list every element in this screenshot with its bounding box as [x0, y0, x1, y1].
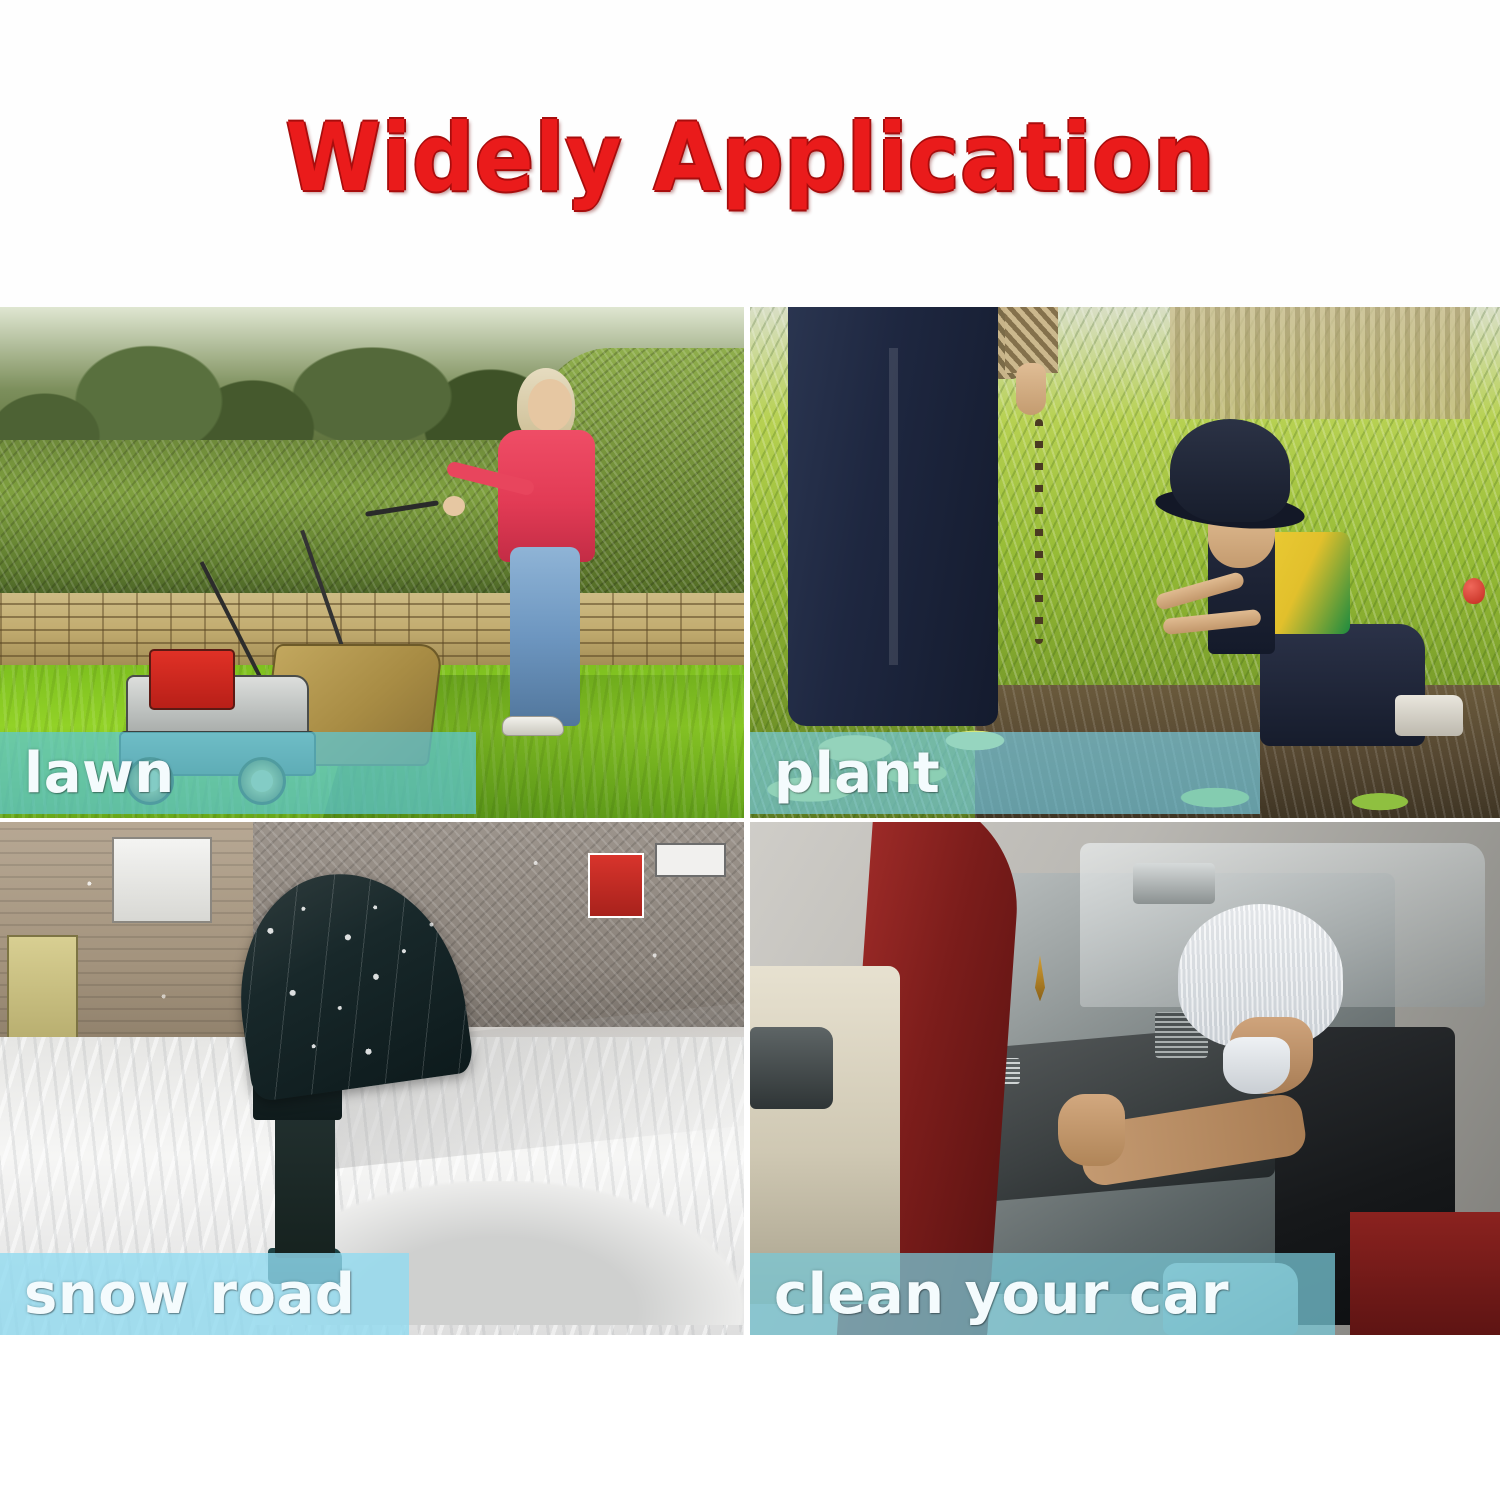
woman-shoe	[502, 716, 564, 736]
child-bucket-hat	[1170, 419, 1290, 521]
mower-engine	[149, 649, 235, 709]
panel-lawn[interactable]: lawn	[0, 307, 750, 822]
woman-pink-top	[498, 430, 595, 563]
street-sign-white	[655, 843, 726, 878]
falling-seeds	[1035, 419, 1043, 644]
building-door	[7, 935, 78, 1052]
tomato	[1463, 578, 1485, 604]
panel-caption-lawn: lawn	[0, 732, 476, 814]
panel-clean-your-car[interactable]: clean your car	[750, 822, 1500, 1335]
title-bar: Widely Application	[0, 0, 1500, 307]
panel-snow-road[interactable]: snow road	[0, 822, 750, 1335]
rearview-mirror	[1133, 863, 1216, 904]
building-window	[112, 837, 213, 923]
cleaner-face-mask	[1223, 1037, 1291, 1093]
page-title: Widely Application	[285, 104, 1215, 213]
car-red-bodywork	[1350, 1212, 1500, 1335]
adult-hand	[1016, 363, 1046, 415]
cleaner-hand	[1058, 1094, 1126, 1166]
woman-head	[528, 379, 572, 431]
side-mirror	[750, 1027, 833, 1109]
widely-application-poster: Widely Application	[0, 0, 1500, 1500]
woman-jeans	[510, 547, 581, 726]
garden-fence	[1170, 307, 1470, 419]
woman-hand	[443, 496, 465, 516]
panel-caption-snow-road: snow road	[0, 1253, 409, 1335]
panel-plant[interactable]: plant	[750, 307, 1500, 822]
application-collage-grid: lawn	[0, 307, 1500, 1335]
pedestrian-legs	[275, 1104, 335, 1258]
street-sign-red	[588, 853, 644, 919]
panel-caption-plant: plant	[750, 732, 1260, 814]
panel-caption-clean-your-car: clean your car	[750, 1253, 1335, 1335]
